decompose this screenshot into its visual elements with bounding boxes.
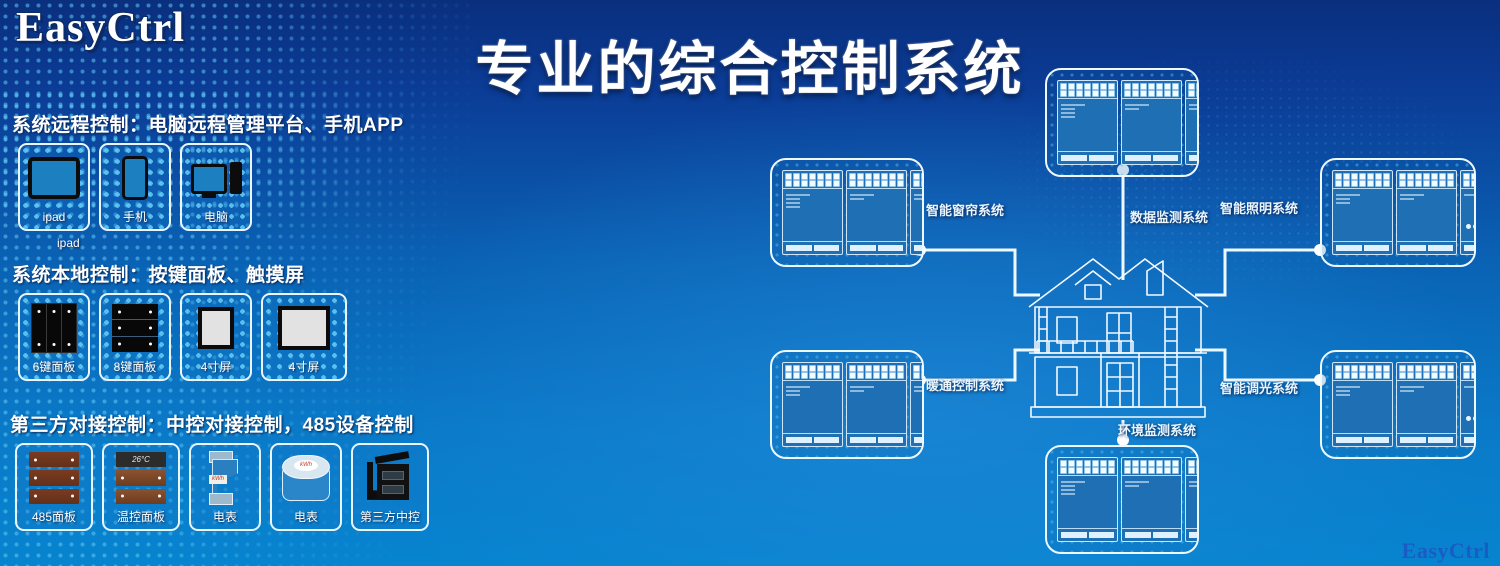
din-module: [1121, 80, 1182, 165]
device-label: 485面板: [32, 511, 76, 524]
din-module: [1121, 457, 1182, 542]
din-module-controller: [1460, 362, 1476, 447]
node-label-dimming: 智能调光系统: [1220, 378, 1298, 397]
din-module-controller: [1185, 457, 1199, 542]
din-module: [1057, 457, 1118, 542]
device-card-485panel[interactable]: 485面板: [15, 443, 93, 531]
device-label: 第三方中控: [360, 511, 420, 524]
stray-ipad-label: ipad: [57, 236, 80, 250]
four-inch-screen-icon: [182, 295, 250, 361]
device-label: 温控面板: [117, 511, 165, 524]
four-inch-screen-wide-icon: [263, 295, 345, 361]
module-box-environment[interactable]: [1045, 445, 1199, 554]
device-label: 4寸屏: [289, 361, 320, 374]
section-heading-local: 系统本地控制：按键面板、触摸屏: [12, 260, 305, 287]
thermostat-display: 26°C: [116, 452, 166, 467]
device-label: 电脑: [204, 211, 228, 224]
electric-meter-icon: kWh: [191, 445, 259, 511]
module-box-curtain[interactable]: [770, 158, 924, 267]
device-card-third-party-controller[interactable]: 第三方中控: [351, 443, 429, 531]
din-module: [1396, 170, 1457, 255]
node-label-lighting: 智能照明系统: [1220, 198, 1298, 217]
din-module-controller: [910, 170, 924, 255]
poster-canvas: EasyCtrl 专业的综合控制系统 系统远程控制：电脑远程管理平台、手机APP…: [0, 0, 1500, 566]
device-card-screen-a[interactable]: 4寸屏: [180, 293, 252, 381]
house-illustration: [1015, 245, 1220, 420]
din-module: [782, 362, 843, 447]
device-label: 8键面板: [114, 361, 157, 374]
din-module: [846, 362, 907, 447]
din-module: [1396, 362, 1457, 447]
phone-icon: [101, 145, 169, 211]
brand-logo: EasyCtrl: [16, 4, 185, 52]
din-module: [846, 170, 907, 255]
device-label: 6键面板: [33, 361, 76, 374]
node-label-curtain: 智能窗帘系统: [926, 200, 1004, 219]
section-heading-thirdparty: 第三方对接控制：中控对接控制，485设备控制: [10, 410, 414, 437]
module-box-dimming[interactable]: [1320, 350, 1476, 459]
module-box-data-monitor[interactable]: [1045, 68, 1199, 177]
device-label: 4寸屏: [201, 361, 232, 374]
corner-watermark: EasyCtrl: [1402, 538, 1490, 564]
node-label-hvac: 暖通控制系统: [926, 375, 1004, 394]
device-label: ipad: [43, 211, 66, 224]
device-card-6key[interactable]: 6键面板: [18, 293, 90, 381]
node-label-data-monitor: 数据监测系统: [1130, 207, 1208, 226]
thermostat-panel-icon: 26°C: [104, 445, 178, 511]
device-card-screen-b[interactable]: 4寸屏: [261, 293, 347, 381]
six-key-panel-icon: [20, 295, 88, 361]
device-card-meter-1[interactable]: kWh 电表: [189, 443, 261, 531]
din-module-controller: [1185, 80, 1199, 165]
device-row-local: 6键面板 8键面板 4寸屏 4寸屏: [18, 293, 347, 381]
node-label-environment: 环境监测系统: [1118, 420, 1196, 439]
system-topology-diagram: 智能窗帘系统: [740, 50, 1500, 566]
device-card-meter-2[interactable]: kWh 电表: [270, 443, 342, 531]
din-module-controller: [910, 362, 924, 447]
device-card-8key[interactable]: 8键面板: [99, 293, 171, 381]
rs485-panel-icon: [17, 445, 91, 511]
device-card-thermostat[interactable]: 26°C 温控面板: [102, 443, 180, 531]
device-label: 电表: [294, 511, 318, 524]
din-module: [1332, 362, 1393, 447]
device-label: 电表: [213, 511, 237, 524]
din-module: [1057, 80, 1118, 165]
module-box-hvac[interactable]: [770, 350, 924, 459]
din-module-controller: [1460, 170, 1476, 255]
device-row-thirdparty: 485面板 26°C 温控面板 kWh 电表 kWh 电表: [15, 443, 429, 531]
device-row-remote: ipad 手机 电脑: [18, 143, 252, 231]
device-label: 手机: [123, 211, 147, 224]
device-card-computer[interactable]: 电脑: [180, 143, 252, 231]
module-box-lighting[interactable]: [1320, 158, 1476, 267]
third-party-controller-icon: [353, 445, 427, 511]
section-heading-remote: 系统远程控制：电脑远程管理平台、手机APP: [12, 110, 404, 137]
tablet-icon: [20, 145, 88, 211]
din-module: [1332, 170, 1393, 255]
round-meter-icon: kWh: [272, 445, 340, 511]
device-card-phone[interactable]: 手机: [99, 143, 171, 231]
device-card-ipad[interactable]: ipad: [18, 143, 90, 231]
eight-key-panel-icon: [101, 295, 169, 361]
desktop-computer-icon: [182, 145, 250, 211]
din-module: [782, 170, 843, 255]
